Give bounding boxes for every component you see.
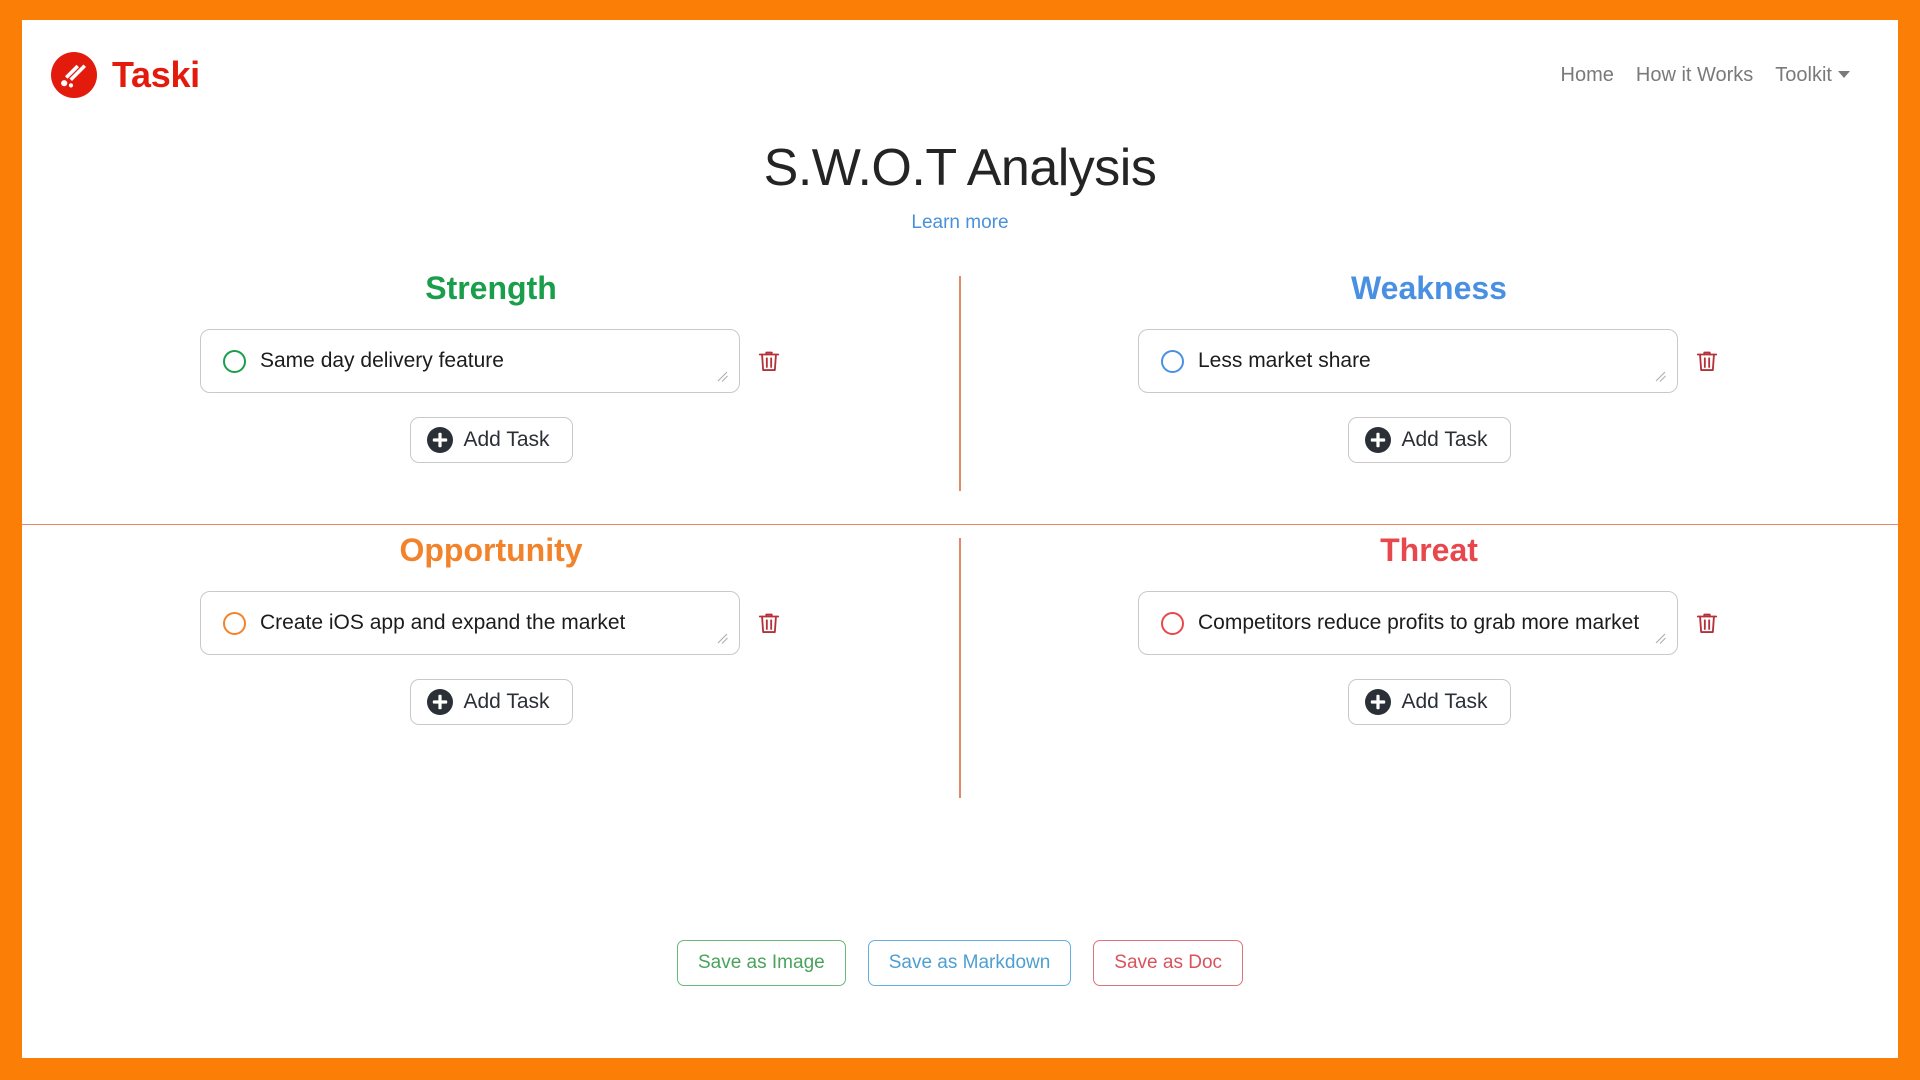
add-task-button[interactable]: Add Task <box>1348 679 1511 725</box>
task-text[interactable]: Create iOS app and expand the market <box>260 611 625 635</box>
task-text[interactable]: Competitors reduce profits to grab more … <box>1198 611 1639 635</box>
vertical-divider-top <box>959 276 961 491</box>
add-task-label: Add Task <box>1402 690 1488 714</box>
resize-grip-icon[interactable] <box>715 369 729 383</box>
nav-item-home[interactable]: Home <box>1561 64 1614 87</box>
learn-more-link[interactable]: Learn more <box>911 212 1008 234</box>
resize-grip-icon[interactable] <box>715 631 729 645</box>
swot-row-bottom: Opportunity Create iOS app and expand th… <box>22 524 1898 814</box>
add-task-label: Add Task <box>464 428 550 452</box>
page-title-block: S.W.O.T Analysis Learn more <box>22 138 1898 234</box>
resize-grip-icon[interactable] <box>1653 631 1667 645</box>
chevron-down-icon <box>1838 71 1850 78</box>
task-card[interactable]: Less market share <box>1138 329 1678 393</box>
delete-task-button[interactable] <box>756 610 782 636</box>
vertical-divider-bottom <box>959 538 961 798</box>
resize-grip-icon[interactable] <box>1653 369 1667 383</box>
brand-logo[interactable]: Taski <box>36 51 200 99</box>
quadrant-title-opportunity: Opportunity <box>399 532 582 569</box>
quadrant-title-threat: Threat <box>1380 532 1478 569</box>
task-row: Create iOS app and expand the market <box>200 591 782 655</box>
task-row: Competitors reduce profits to grab more … <box>1138 591 1720 655</box>
task-card[interactable]: Create iOS app and expand the market <box>200 591 740 655</box>
task-status-circle-icon[interactable] <box>1161 612 1184 635</box>
quadrant-title-strength: Strength <box>425 270 557 307</box>
plus-circle-icon <box>427 689 453 715</box>
delete-task-button[interactable] <box>756 348 782 374</box>
nav-item-how-it-works[interactable]: How it Works <box>1636 64 1753 87</box>
nav-item-toolkit[interactable]: Toolkit <box>1775 64 1850 87</box>
save-as-markdown-button[interactable]: Save as Markdown <box>868 940 1072 986</box>
app-page: Taski Home How it Works Toolkit S.W.O.T … <box>22 20 1898 1058</box>
nav-item-toolkit-label: Toolkit <box>1775 64 1832 86</box>
plus-circle-icon <box>427 427 453 453</box>
task-status-circle-icon[interactable] <box>223 612 246 635</box>
task-card[interactable]: Same day delivery feature <box>200 329 740 393</box>
task-text[interactable]: Less market share <box>1198 349 1371 373</box>
task-status-circle-icon[interactable] <box>1161 350 1184 373</box>
add-task-button[interactable]: Add Task <box>1348 417 1511 463</box>
main-nav: Home How it Works Toolkit <box>1561 64 1850 87</box>
quadrant-strength: Strength Same day delivery feature <box>22 262 960 524</box>
add-task-label: Add Task <box>464 690 550 714</box>
swot-grid: Strength Same day delivery feature <box>22 262 1898 814</box>
delete-task-button[interactable] <box>1694 348 1720 374</box>
task-status-circle-icon[interactable] <box>223 350 246 373</box>
add-task-button[interactable]: Add Task <box>410 417 573 463</box>
save-as-image-button[interactable]: Save as Image <box>677 940 846 986</box>
task-row: Less market share <box>1138 329 1720 393</box>
plus-circle-icon <box>1365 427 1391 453</box>
add-task-label: Add Task <box>1402 428 1488 452</box>
save-as-doc-button[interactable]: Save as Doc <box>1093 940 1243 986</box>
quadrant-threat: Threat Competitors reduce profits to gra… <box>960 524 1898 814</box>
task-card[interactable]: Competitors reduce profits to grab more … <box>1138 591 1678 655</box>
plus-circle-icon <box>1365 689 1391 715</box>
task-text[interactable]: Same day delivery feature <box>260 349 504 373</box>
delete-task-button[interactable] <box>1694 610 1720 636</box>
swot-row-top: Strength Same day delivery feature <box>22 262 1898 524</box>
export-toolbar: Save as Image Save as Markdown Save as D… <box>22 940 1898 986</box>
quadrant-title-weakness: Weakness <box>1351 270 1507 307</box>
quadrant-opportunity: Opportunity Create iOS app and expand th… <box>22 524 960 814</box>
add-task-button[interactable]: Add Task <box>410 679 573 725</box>
quadrant-weakness: Weakness Less market share <box>960 262 1898 524</box>
taski-comet-logo-icon <box>50 51 98 99</box>
site-header: Taski Home How it Works Toolkit <box>22 20 1898 130</box>
page-title: S.W.O.T Analysis <box>22 138 1898 198</box>
brand-name: Taski <box>112 54 200 96</box>
task-row: Same day delivery feature <box>200 329 782 393</box>
